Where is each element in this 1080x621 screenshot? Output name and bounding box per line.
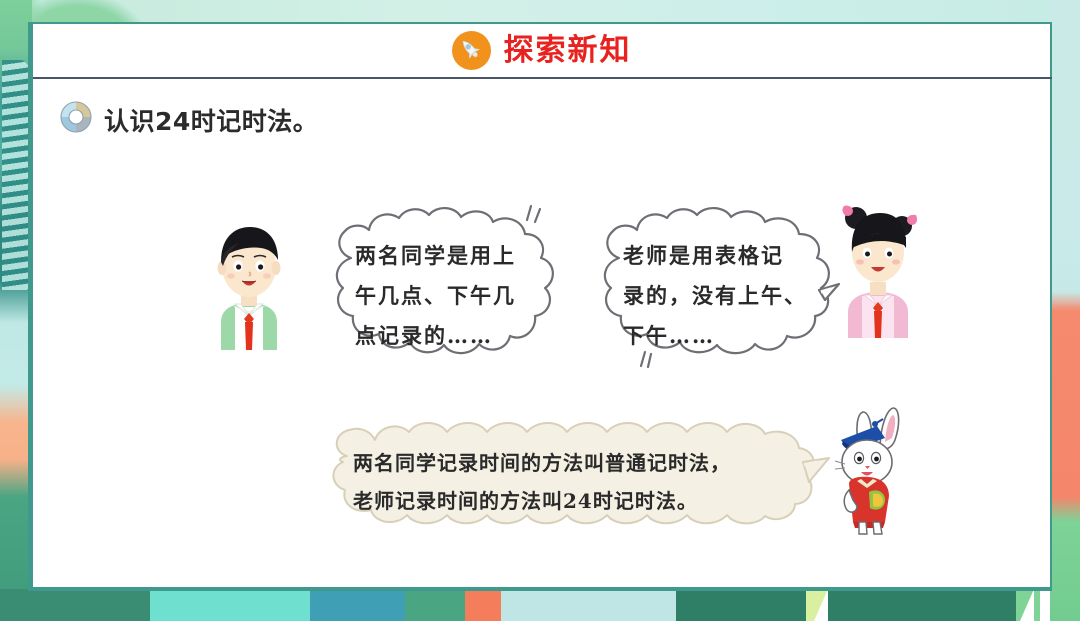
bottom-band-segment — [876, 589, 1016, 621]
subtitle-row: 认识24时记时法。 — [59, 100, 318, 139]
bottom-band-segment — [310, 589, 405, 621]
donut-ring-icon — [59, 100, 93, 139]
bottom-band-segment — [150, 589, 310, 621]
bottom-band-segment — [465, 589, 501, 621]
page-title: 探索新知 — [504, 36, 632, 66]
conclusion-speech-bubble: 两名同学记录时间的方法叫普通记时法， 老师记录时间的方法叫24时记时法。 — [317, 416, 841, 530]
girl-bubble-text: 老师是用表格记 录的，没有上午、 下午…… — [589, 212, 845, 356]
bottom-band-segment — [501, 589, 676, 621]
bottom-band-segment — [676, 589, 806, 621]
boy-speech-bubble: 两名同学是用上 午几点、下午几 点记录的…… — [321, 200, 569, 368]
bottom-band-segment — [806, 589, 828, 621]
content-card: 探索新知 认识24时记时法。 — [28, 22, 1052, 591]
subtitle-text: 认识24时记时法。 — [104, 102, 318, 138]
slide-canvas: 探索新知 认识24时记时法。 — [0, 0, 1080, 621]
boy-bubble-text: 两名同学是用上 午几点、下午几 点记录的…… — [321, 212, 569, 356]
boy-student-avatar — [201, 210, 297, 355]
right-decoration-strip — [1050, 0, 1080, 621]
slide-title-row: 探索新知 — [33, 24, 1050, 77]
rocket-icon — [452, 31, 491, 70]
bottom-band-segment — [1016, 589, 1034, 621]
title-divider — [33, 77, 1052, 79]
bottom-decoration-band — [0, 589, 1080, 621]
conclusion-bubble-text: 两名同学记录时间的方法叫普通记时法， 老师记录时间的方法叫24时记时法。 — [317, 426, 841, 520]
bottom-band-segment — [405, 589, 465, 621]
bottom-band-segment — [1034, 589, 1040, 621]
girl-speech-bubble: 老师是用表格记 录的，没有上午、 下午…… — [589, 200, 845, 368]
bottom-band-segment — [0, 589, 150, 621]
bottom-band-segment — [828, 589, 876, 621]
